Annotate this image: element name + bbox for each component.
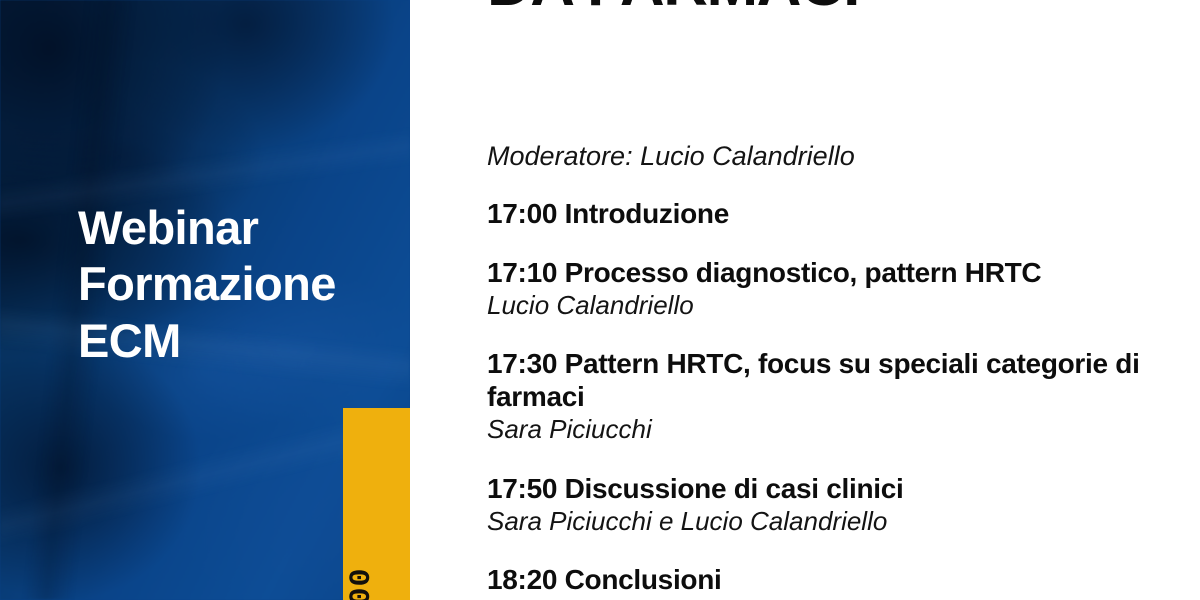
agenda-item-speaker: Sara Piciucchi [487,414,1177,445]
event-title: DA FARMACI [487,0,1177,17]
agenda-item: 17:50 Discussione di casi clinici Sara P… [487,472,1177,537]
agenda-item: 17:30 Pattern HRTC, focus su speciali ca… [487,347,1177,445]
agenda-item-speaker: Sara Piciucchi e Lucio Calandriello [487,506,1177,537]
agenda-item: 17:00 Introduzione [487,197,1177,230]
webinar-poster: Webinar Formazione ECM O 17:00 DA FARMAC… [0,0,1200,600]
agenda-item: 18:20 Conclusioni [487,563,1177,596]
agenda-item-title: 18:20 Conclusioni [487,563,1177,596]
moderator-line: Moderatore: Lucio Calandriello [487,140,855,174]
agenda-item-speaker: Lucio Calandriello [487,290,1177,321]
agenda-item-title: 17:50 Discussione di casi clinici [487,472,1177,505]
agenda-item-title: 17:30 Pattern HRTC, focus su speciali ca… [487,347,1177,413]
agenda-item-title: 17:10 Processo diagnostico, pattern HRTC [487,256,1177,289]
agenda-list: 17:00 Introduzione 17:10 Processo diagno… [487,197,1177,596]
agenda-item-title: 17:00 Introduzione [487,197,1177,230]
panel-heading-line-1: Webinar [78,200,398,256]
agenda-item: 17:10 Processo diagnostico, pattern HRTC… [487,256,1177,321]
panel-heading: Webinar Formazione ECM [78,200,398,369]
content-column: DA FARMACI Moderatore: Lucio Calandriell… [487,0,1177,600]
date-time-band: O 17:00 [343,408,410,600]
panel-heading-line-3: ECM [78,313,398,369]
date-time-label: O 17:00 [347,567,377,600]
panel-heading-line-2: Formazione [78,256,398,312]
